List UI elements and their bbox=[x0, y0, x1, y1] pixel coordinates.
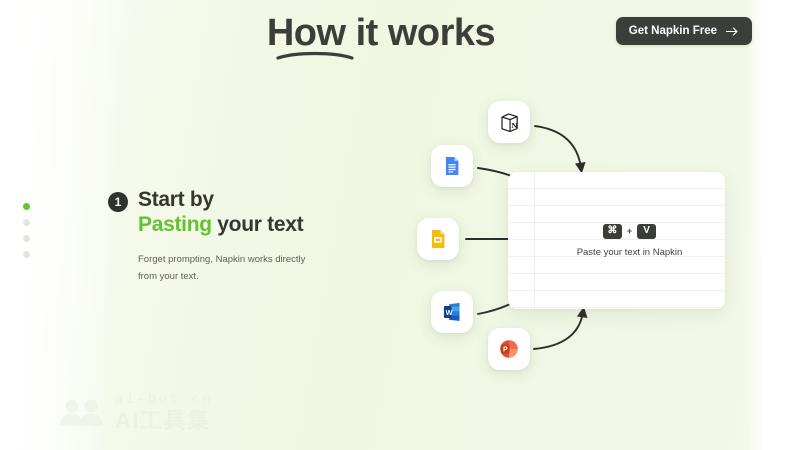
page-root: How it works Get Napkin Free 1 Start by … bbox=[0, 0, 800, 450]
watermark-text: ai-bot.cn AI工具集 bbox=[115, 393, 213, 432]
background-right-margin bbox=[762, 0, 800, 450]
step-heading: Start by Pasting your text bbox=[138, 188, 303, 238]
command-key-icon: ⌘ bbox=[603, 224, 622, 239]
google-slides-icon[interactable] bbox=[417, 218, 459, 260]
step-number-badge: 1 bbox=[108, 192, 128, 212]
carousel-dot-2[interactable] bbox=[23, 219, 30, 226]
key-plus-separator: + bbox=[627, 226, 632, 236]
carousel-dots bbox=[23, 203, 30, 258]
microsoft-word-icon[interactable]: W bbox=[431, 291, 473, 333]
svg-text:N: N bbox=[511, 121, 517, 130]
paste-note-card[interactable]: ⌘ + V Paste your text in Napkin bbox=[508, 172, 725, 309]
powerpoint-icon[interactable]: P bbox=[488, 328, 530, 370]
step-block: 1 Start by Pasting your text Forget prom… bbox=[108, 188, 343, 286]
svg-text:W: W bbox=[446, 308, 453, 317]
carousel-dot-1[interactable] bbox=[23, 203, 30, 210]
v-key-icon: V bbox=[637, 224, 656, 239]
watermark-domain: ai-bot.cn bbox=[115, 393, 213, 407]
watermark-name: AI工具集 bbox=[115, 410, 213, 432]
cta-label: Get Napkin Free bbox=[629, 25, 717, 37]
paste-shortcut: ⌘ + V bbox=[603, 224, 656, 239]
background-fade-left bbox=[0, 0, 120, 450]
note-card-content: ⌘ + V Paste your text in Napkin bbox=[534, 172, 725, 309]
paste-caption: Paste your text in Napkin bbox=[577, 247, 683, 258]
notion-icon[interactable]: N bbox=[488, 101, 530, 143]
svg-text:P: P bbox=[503, 346, 508, 353]
step-subtitle: Forget prompting, Napkin works directly … bbox=[138, 251, 323, 286]
carousel-dot-4[interactable] bbox=[23, 251, 30, 258]
step-heading-row: 1 Start by Pasting your text bbox=[108, 188, 343, 238]
arrow-right-icon bbox=[726, 27, 739, 36]
watermark: ai-bot.cn AI工具集 bbox=[58, 393, 213, 432]
carousel-dot-3[interactable] bbox=[23, 235, 30, 242]
get-napkin-free-button[interactable]: Get Napkin Free bbox=[616, 17, 752, 45]
watermark-logo-icon bbox=[58, 395, 106, 431]
step-heading-line2-rest: your text bbox=[212, 213, 304, 236]
step-heading-line1: Start by bbox=[138, 188, 214, 211]
google-docs-icon[interactable] bbox=[431, 145, 473, 187]
step-heading-accent: Pasting bbox=[138, 213, 212, 236]
